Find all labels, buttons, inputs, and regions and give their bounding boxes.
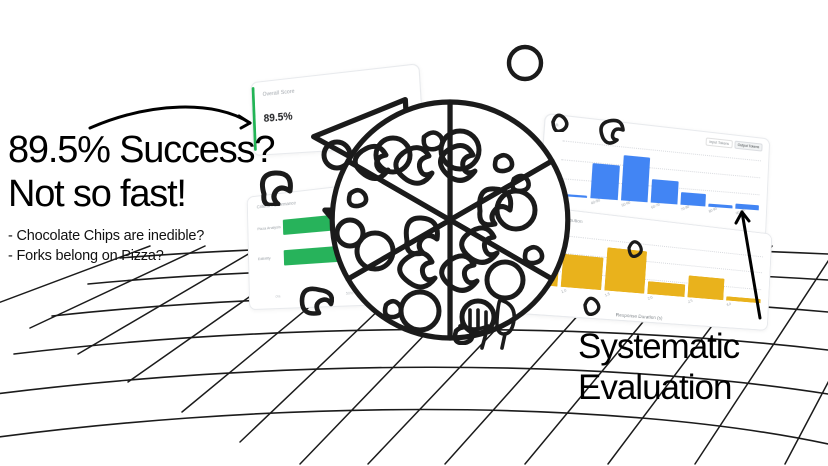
bullet-item: - Forks belong on Pizza? <box>8 246 348 266</box>
criteria-axis-tick: 0% <box>276 295 281 299</box>
overall-score-value: 89.5% <box>263 110 292 125</box>
token-series-toggle[interactable]: Input Tokens Output Tokens <box>706 137 763 152</box>
blob-doodle <box>548 108 570 132</box>
pizza-illustration <box>300 55 590 345</box>
headline-line-1: 89.5% Success? <box>8 128 338 172</box>
bullet-item: - Chocolate Chips are inedible? <box>8 226 348 246</box>
headline-block: 89.5% Success? Not so fast! <box>8 128 338 216</box>
blob-doodle <box>580 292 602 316</box>
overall-score-label: Overall Score <box>263 89 295 98</box>
mushroom-doodle <box>594 116 628 146</box>
tagline-line-2: Evaluation <box>578 367 828 408</box>
fork-and-knife-doodle <box>452 292 532 350</box>
tagline-block: Systematic Evaluation <box>578 326 828 408</box>
mushroom-doodle <box>296 282 334 316</box>
toggle-input-tokens[interactable]: Input Tokens <box>706 137 733 148</box>
circle-doodle <box>502 40 548 86</box>
toggle-output-tokens[interactable]: Output Tokens <box>734 141 763 152</box>
headline-line-2: Not so fast! <box>8 172 338 216</box>
tagline-line-1: Systematic <box>578 326 828 367</box>
poster-canvas: Overall Score 89.5% Criteria Performance… <box>0 0 828 466</box>
bullet-list: - Chocolate Chips are inedible? - Forks … <box>8 226 348 266</box>
blob-doodle <box>624 236 644 258</box>
